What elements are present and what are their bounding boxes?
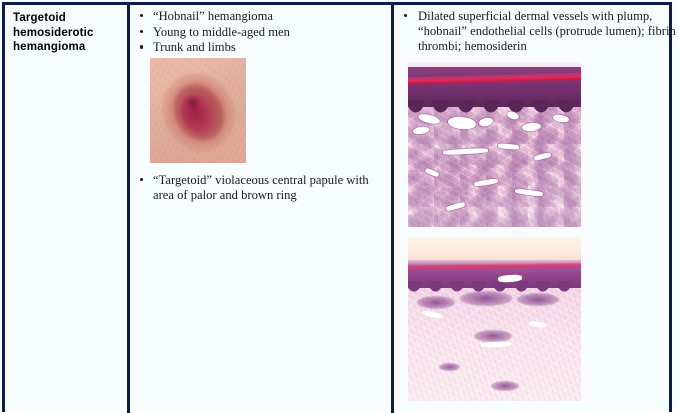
clinical-photo-image (150, 58, 246, 163)
dilated-vessel (442, 147, 487, 154)
bullet-dot-icon (140, 30, 143, 33)
histology-image-top (408, 60, 581, 227)
dermal-detail-group (408, 237, 581, 401)
perivascular-infiltrate (417, 296, 455, 309)
bullet-dot-icon (140, 14, 143, 17)
pathology-bullet-list: Dilated superficial dermal vessels with … (397, 9, 679, 55)
bullet-dot-icon (140, 45, 143, 48)
perivascular-infiltrate (517, 293, 559, 306)
pathology-bullet-text: Dilated superficial dermal vessels with … (418, 9, 676, 53)
bullet-dot-icon (140, 178, 143, 181)
clinical-bullet-text: “Hobnail” hemangioma (153, 9, 273, 23)
diagnosis-title: Targetoid hemosiderotic hemangioma (13, 11, 123, 55)
clinical-bullet-list: “Hobnail” hemangioma Young to middle-age… (133, 9, 389, 56)
list-item: Trunk and limbs (133, 40, 389, 55)
vascular-cleft (481, 341, 512, 347)
dilated-vessel (446, 201, 466, 211)
clinical-cell: “Hobnail” hemangioma Young to middle-age… (133, 9, 389, 56)
dilated-vessel (418, 113, 442, 127)
vascular-cleft (498, 274, 523, 282)
clinical-caption-text: “Targetoid” violaceous central papule wi… (153, 173, 369, 202)
pathology-cell: Dilated superficial dermal vessels with … (397, 9, 679, 55)
clinical-bullet-text: Young to middle-aged men (153, 25, 290, 39)
bullet-dot-icon (404, 14, 407, 17)
dilated-vessel (553, 114, 569, 123)
perivascular-infiltrate (439, 363, 460, 371)
dilated-vessel (413, 126, 429, 135)
dilated-vessel (473, 178, 498, 187)
dilated-vessel (498, 143, 519, 150)
clinical-caption-cell: “Targetoid” violaceous central papule wi… (133, 173, 389, 204)
dilated-vessel (506, 110, 520, 120)
diagnosis-name-cell: Targetoid hemosiderotic hemangioma (13, 11, 123, 55)
dilated-vessel (478, 117, 493, 128)
dilated-vessel (534, 151, 552, 160)
perivascular-infiltrate (474, 330, 512, 341)
column-divider-1 (127, 3, 130, 413)
dilated-vessel (522, 122, 542, 132)
histology-image-bottom (408, 237, 581, 401)
comparison-table: Targetoid hemosiderotic hemangioma “Hobn… (2, 2, 672, 412)
list-item: Dilated superficial dermal vessels with … (397, 9, 679, 55)
column-divider-2 (391, 3, 394, 413)
list-item: Young to middle-aged men (133, 25, 389, 40)
perivascular-infiltrate (460, 291, 512, 306)
clinical-caption-list: “Targetoid” violaceous central papule wi… (133, 173, 389, 203)
dilated-vessel-group (408, 60, 581, 227)
dilated-vessel (425, 168, 440, 178)
dilated-vessel (515, 189, 543, 197)
list-item: “Hobnail” hemangioma (133, 9, 389, 24)
page-root: Targetoid hemosiderotic hemangioma “Hobn… (0, 0, 679, 408)
vascular-cleft (422, 310, 443, 319)
vascular-cleft (529, 321, 547, 328)
perivascular-infiltrate (491, 381, 519, 391)
dilated-vessel (447, 115, 476, 130)
clinical-bullet-text: Trunk and limbs (153, 40, 236, 54)
list-item: “Targetoid” violaceous central papule wi… (133, 173, 389, 203)
